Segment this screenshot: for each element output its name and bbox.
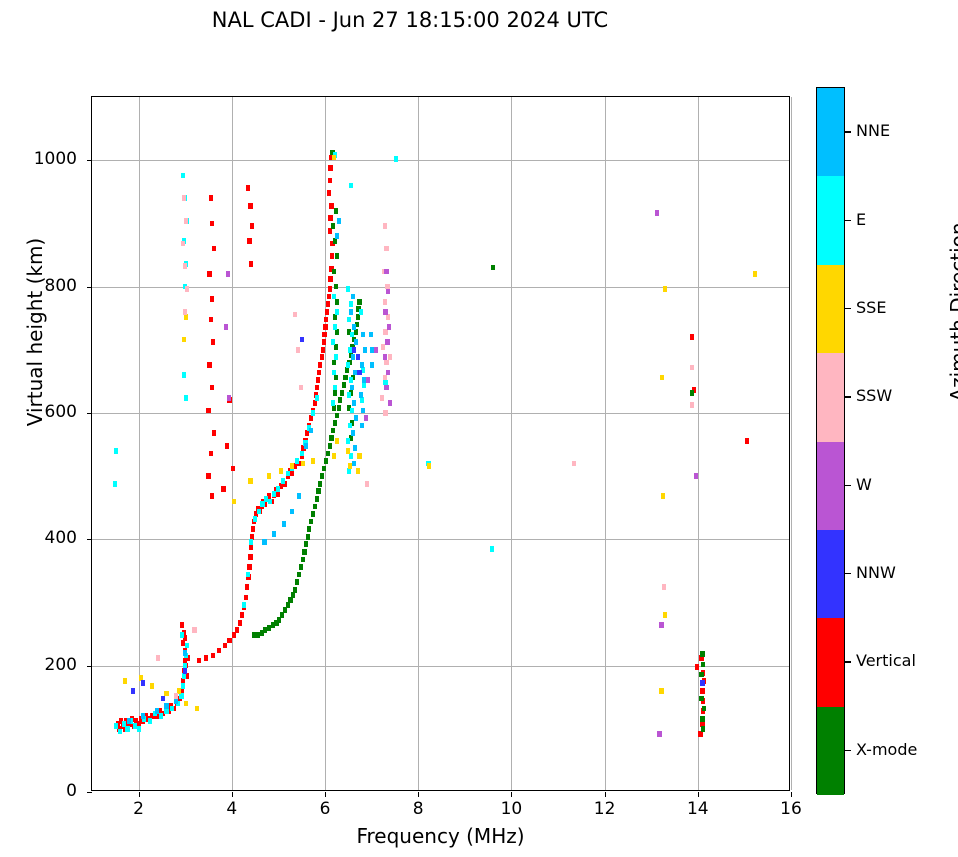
- data-point-e: [347, 468, 351, 474]
- data-point-x-mode: [335, 299, 339, 305]
- data-point-nne: [127, 718, 131, 724]
- colorbar-tick: [845, 396, 851, 397]
- data-point-sse: [663, 286, 667, 292]
- data-point-x-mode: [283, 607, 287, 613]
- y-axis-tick: [87, 792, 92, 793]
- data-point-e: [276, 486, 280, 492]
- data-point-x-mode: [333, 238, 337, 244]
- data-point-e: [331, 339, 335, 345]
- data-point-e: [242, 602, 246, 608]
- gridline-vertical: [698, 97, 699, 790]
- x-axis-tick: [139, 792, 140, 797]
- gridline-vertical: [511, 97, 512, 790]
- data-point-e: [182, 673, 186, 679]
- x-axis-tick-label: 16: [761, 799, 821, 819]
- data-point-w: [384, 269, 388, 275]
- data-point-e: [349, 183, 353, 189]
- data-point-vertical: [320, 354, 324, 360]
- data-point-x-mode: [334, 375, 338, 381]
- colorbar-label-nne: NNE: [856, 121, 890, 140]
- data-point-x-mode: [316, 488, 320, 494]
- data-point-e: [346, 286, 350, 292]
- data-point-nne: [361, 408, 365, 414]
- colorbar-tick: [845, 573, 851, 574]
- data-point-ssw: [383, 410, 387, 416]
- gridline-vertical: [791, 97, 792, 790]
- data-point-e: [331, 400, 335, 406]
- data-point-vertical: [207, 362, 211, 368]
- data-point-nnw: [700, 680, 704, 686]
- data-point-sse: [335, 438, 339, 444]
- gridline-horizontal: [92, 287, 789, 288]
- scatter-canvas: [92, 97, 789, 790]
- data-point-x-mode: [701, 726, 705, 732]
- data-point-vertical: [180, 622, 184, 628]
- colorbar-segment-nnw: [817, 530, 844, 618]
- data-point-sse: [150, 683, 154, 689]
- data-point-w: [226, 271, 230, 277]
- data-point-ssw: [293, 312, 297, 318]
- data-point-x-mode: [699, 696, 703, 702]
- data-point-w: [657, 731, 661, 737]
- data-point-vertical: [225, 443, 229, 449]
- data-point-sse: [356, 468, 360, 474]
- colorbar-title: Azimuth Direction: [946, 172, 958, 452]
- data-point-e: [394, 156, 398, 162]
- data-point-e: [181, 173, 185, 179]
- colorbar-label-ssw: SSW: [856, 386, 892, 405]
- data-point-e: [118, 729, 122, 735]
- data-point-sse: [182, 337, 186, 343]
- gridline-vertical: [418, 97, 419, 790]
- azimuth-colorbar: [816, 87, 845, 794]
- data-point-e: [113, 481, 117, 487]
- data-point-vertical: [217, 648, 221, 654]
- data-point-vertical: [276, 491, 280, 497]
- data-point-w: [385, 339, 389, 345]
- data-point-nne: [290, 509, 294, 515]
- data-point-vertical: [197, 658, 201, 664]
- data-point-sse: [195, 706, 199, 712]
- colorbar-tick: [845, 661, 851, 662]
- data-point-ssw: [174, 693, 178, 699]
- y-axis-tick: [87, 539, 92, 540]
- data-point-vertical: [695, 664, 699, 670]
- data-point-nne: [297, 493, 301, 499]
- y-axis-tick: [87, 287, 92, 288]
- data-point-vertical: [248, 203, 252, 209]
- data-point-sse: [279, 468, 283, 474]
- data-point-vertical: [210, 385, 214, 391]
- data-point-w: [388, 400, 392, 406]
- data-point-nnw: [131, 688, 135, 694]
- data-point-x-mode: [297, 572, 301, 578]
- data-point-nne: [369, 332, 373, 338]
- data-point-nne: [354, 415, 358, 421]
- data-point-e: [148, 718, 152, 724]
- colorbar-tick: [845, 750, 851, 751]
- ionogram-plot-area: 24681012141602004006008001000: [91, 96, 790, 791]
- data-point-x-mode: [690, 390, 694, 396]
- data-point-vertical: [209, 451, 213, 457]
- x-axis-tick: [511, 792, 512, 797]
- data-point-sse: [357, 453, 361, 459]
- colorbar-segment-x-mode: [817, 707, 844, 795]
- data-point-x-mode: [301, 557, 305, 563]
- data-point-vertical: [245, 584, 249, 590]
- data-point-x-mode: [315, 496, 319, 502]
- data-point-w: [383, 309, 387, 315]
- data-point-sse: [348, 463, 352, 469]
- data-point-vertical: [227, 638, 231, 644]
- data-point-nne: [183, 650, 187, 656]
- colorbar-label-sse: SSE: [856, 298, 886, 317]
- data-point-e: [349, 377, 353, 383]
- x-axis-tick-label: 14: [668, 799, 728, 819]
- data-point-vertical: [317, 370, 321, 376]
- data-point-x-mode: [354, 329, 358, 335]
- data-point-sse: [248, 478, 252, 484]
- data-point-x-mode: [335, 253, 339, 259]
- data-point-vertical: [204, 655, 208, 661]
- data-point-e: [334, 354, 338, 360]
- data-point-w: [386, 289, 390, 295]
- data-point-x-mode: [318, 481, 322, 487]
- data-point-vertical: [248, 554, 252, 560]
- y-axis-tick-label: 1000: [0, 149, 77, 169]
- data-point-w: [227, 395, 231, 401]
- data-point-vertical: [223, 643, 227, 649]
- data-point-x-mode: [307, 526, 311, 532]
- data-point-ssw: [384, 246, 388, 252]
- data-point-nne: [351, 430, 355, 436]
- data-point-ssw: [296, 347, 300, 353]
- x-axis-tick: [698, 792, 699, 797]
- data-point-vertical: [247, 564, 251, 570]
- data-point-w: [387, 324, 391, 330]
- data-point-e: [346, 362, 350, 368]
- data-point-e: [281, 478, 285, 484]
- data-point-vertical: [316, 377, 320, 383]
- data-point-x-mode: [291, 592, 295, 598]
- data-point-x-mode: [335, 329, 339, 335]
- gridline-horizontal: [92, 666, 789, 667]
- data-point-nne: [335, 233, 339, 239]
- data-point-vertical: [745, 438, 749, 444]
- data-point-x-mode: [302, 549, 306, 555]
- data-point-x-mode: [313, 504, 317, 510]
- data-point-nnw: [183, 668, 187, 674]
- colorbar-segment-e: [817, 176, 844, 264]
- data-point-nne: [262, 539, 266, 545]
- colorbar-segment-ssw: [817, 353, 844, 441]
- data-point-nne: [352, 324, 356, 330]
- data-point-x-mode: [345, 367, 349, 373]
- data-point-vertical: [240, 612, 244, 618]
- data-point-sse: [184, 701, 188, 707]
- data-point-sse: [301, 461, 305, 467]
- data-point-nne: [350, 385, 354, 391]
- data-point-w: [694, 473, 698, 479]
- data-point-e: [257, 509, 261, 515]
- data-point-vertical: [328, 286, 332, 292]
- data-point-w: [224, 324, 228, 330]
- gridline-vertical: [325, 97, 326, 790]
- data-point-vertical: [209, 317, 213, 323]
- data-point-vertical: [309, 415, 313, 421]
- data-point-vertical: [212, 246, 216, 252]
- data-point-ssw: [183, 263, 187, 269]
- data-point-nne: [360, 362, 364, 368]
- data-point-x-mode: [333, 420, 337, 426]
- data-point-nne: [361, 332, 365, 338]
- data-point-e: [348, 423, 352, 429]
- data-point-e: [332, 294, 336, 300]
- data-point-vertical: [210, 493, 214, 499]
- data-point-x-mode: [288, 597, 292, 603]
- data-point-ssw: [572, 461, 576, 467]
- data-point-nne: [352, 461, 356, 467]
- x-axis-tick: [325, 792, 326, 797]
- data-point-w: [655, 210, 659, 216]
- data-point-sse: [164, 691, 168, 697]
- colorbar-segment-vertical: [817, 618, 844, 706]
- data-point-nne: [349, 309, 353, 315]
- data-point-vertical: [323, 324, 327, 330]
- data-point-ssw: [183, 309, 187, 315]
- data-point-e: [170, 706, 174, 712]
- data-point-vertical: [326, 301, 330, 307]
- data-point-nne: [164, 703, 168, 709]
- data-point-ssw: [690, 365, 694, 371]
- data-point-vertical: [231, 466, 235, 472]
- data-point-e: [350, 408, 354, 414]
- data-point-x-mode: [334, 284, 338, 290]
- data-point-vertical: [318, 362, 322, 368]
- data-point-x-mode: [699, 672, 703, 678]
- data-point-sse: [661, 493, 665, 499]
- x-axis-tick: [232, 792, 233, 797]
- data-point-x-mode: [333, 390, 337, 396]
- data-point-e: [246, 572, 250, 578]
- data-point-x-mode: [335, 413, 339, 419]
- colorbar-label-vertical: Vertical: [856, 651, 916, 670]
- data-point-vertical: [244, 595, 248, 601]
- data-point-x-mode: [286, 602, 290, 608]
- data-point-e: [362, 382, 366, 388]
- data-point-vertical: [328, 276, 332, 282]
- colorbar-tick: [845, 220, 851, 221]
- data-point-x-mode: [356, 314, 360, 320]
- data-point-e: [295, 458, 299, 464]
- data-point-vertical: [207, 271, 211, 277]
- data-point-sse: [290, 463, 294, 469]
- data-point-vertical: [235, 627, 239, 633]
- data-point-nne: [351, 294, 355, 300]
- data-point-e: [349, 453, 353, 459]
- data-point-sse: [427, 463, 431, 469]
- data-point-vertical: [290, 471, 294, 477]
- data-point-e: [333, 324, 337, 330]
- colorbar-segment-nne: [817, 88, 844, 176]
- y-axis-tick-label: 200: [0, 655, 77, 675]
- data-point-e: [490, 546, 494, 552]
- data-point-x-mode: [491, 265, 495, 271]
- data-point-vertical: [211, 653, 215, 659]
- data-point-x-mode: [702, 706, 706, 712]
- data-point-ssw: [181, 241, 185, 247]
- data-point-vertical: [315, 385, 319, 391]
- x-axis-tick: [605, 792, 606, 797]
- gridline-vertical: [605, 97, 606, 790]
- y-axis-tick: [87, 160, 92, 161]
- colorbar-tick: [845, 308, 851, 309]
- data-point-x-mode: [280, 612, 284, 618]
- data-point-x-mode: [342, 382, 346, 388]
- data-point-e: [184, 395, 188, 401]
- data-point-w: [386, 370, 390, 376]
- data-point-vertical: [209, 195, 213, 201]
- data-point-ssw: [380, 395, 384, 401]
- data-point-nne: [359, 392, 363, 398]
- colorbar-label-w: W: [856, 475, 872, 494]
- data-point-w: [374, 347, 378, 353]
- data-point-ssw: [299, 385, 303, 391]
- data-point-x-mode: [338, 397, 342, 403]
- data-point-e: [359, 309, 363, 315]
- data-point-vertical: [700, 688, 704, 694]
- data-point-vertical: [211, 339, 215, 345]
- x-axis-tick-label: 4: [202, 799, 262, 819]
- data-point-w: [364, 415, 368, 421]
- data-point-ssw: [383, 223, 387, 229]
- x-axis-tick: [418, 792, 419, 797]
- data-point-nnw: [357, 370, 361, 376]
- data-point-vertical: [327, 190, 331, 196]
- data-point-e: [185, 643, 189, 649]
- data-point-nne: [370, 362, 374, 368]
- data-point-nne: [309, 428, 313, 434]
- data-point-x-mode: [322, 466, 326, 472]
- data-point-w: [366, 377, 370, 383]
- data-point-x-mode: [332, 360, 336, 366]
- data-point-e: [332, 370, 336, 376]
- data-point-nne: [272, 531, 276, 537]
- data-point-nne: [337, 218, 341, 224]
- data-point-w: [659, 622, 663, 628]
- data-point-sse: [332, 155, 336, 161]
- data-point-nne: [353, 370, 357, 376]
- data-point-x-mode: [328, 443, 332, 449]
- data-point-x-mode: [343, 375, 347, 381]
- data-point-vertical: [322, 332, 326, 338]
- data-point-ssw: [383, 329, 387, 335]
- data-point-vertical: [329, 203, 333, 209]
- data-point-vertical: [330, 253, 334, 259]
- data-point-vertical: [210, 221, 214, 227]
- data-point-vertical: [246, 185, 250, 191]
- data-point-x-mode: [340, 390, 344, 396]
- data-point-sse: [332, 453, 336, 459]
- data-point-vertical: [212, 430, 216, 436]
- x-axis-title: Frequency (MHz): [91, 824, 790, 848]
- data-point-vertical: [324, 317, 328, 323]
- data-point-x-mode: [324, 458, 328, 464]
- data-point-vertical: [250, 223, 254, 229]
- data-point-e: [350, 332, 354, 338]
- data-point-vertical: [690, 334, 694, 340]
- data-point-x-mode: [337, 405, 341, 411]
- data-point-nnw: [352, 347, 356, 353]
- data-point-x-mode: [331, 223, 335, 229]
- data-point-vertical: [238, 620, 242, 626]
- data-point-vertical: [328, 215, 332, 221]
- data-point-x-mode: [357, 299, 361, 305]
- data-point-x-mode: [333, 314, 337, 320]
- data-point-nne: [141, 713, 145, 719]
- data-point-x-mode: [293, 587, 297, 593]
- data-point-ssw: [182, 195, 186, 201]
- data-point-nne: [353, 445, 357, 451]
- data-point-e: [347, 392, 351, 398]
- gridline-horizontal: [92, 413, 789, 414]
- data-point-e: [347, 317, 351, 323]
- y-axis-title: Virtual height (km): [23, 202, 47, 462]
- colorbar-tick: [845, 131, 851, 132]
- data-point-nne: [304, 443, 308, 449]
- data-point-x-mode: [332, 269, 336, 275]
- data-point-x-mode: [306, 534, 310, 540]
- data-point-e: [346, 438, 350, 444]
- data-point-e: [272, 491, 276, 497]
- data-point-sse: [311, 458, 315, 464]
- data-point-e: [180, 632, 184, 638]
- data-point-e: [286, 471, 290, 477]
- data-point-e: [125, 726, 129, 732]
- colorbar-label-nnw: NNW: [856, 563, 896, 582]
- gridline-horizontal: [92, 160, 789, 161]
- data-point-nne: [354, 339, 358, 345]
- data-point-ssw: [383, 299, 387, 305]
- data-point-x-mode: [700, 716, 704, 722]
- data-point-ssw: [365, 481, 369, 487]
- x-axis-tick-label: 12: [575, 799, 635, 819]
- data-point-e: [315, 395, 319, 401]
- data-point-sse: [346, 448, 350, 454]
- data-point-vertical: [321, 347, 325, 353]
- data-point-vertical: [322, 339, 326, 345]
- data-point-e: [253, 516, 257, 522]
- data-point-sse: [660, 375, 664, 381]
- x-axis-tick: [791, 792, 792, 797]
- data-point-vertical: [247, 238, 251, 244]
- data-point-sse: [184, 314, 188, 320]
- data-point-e: [260, 501, 264, 507]
- data-point-sse: [123, 678, 127, 684]
- data-point-vertical: [328, 165, 332, 171]
- x-axis-tick-label: 2: [109, 799, 169, 819]
- data-point-e: [360, 397, 364, 403]
- data-point-nne: [282, 521, 286, 527]
- data-point-sse: [267, 473, 271, 479]
- data-point-e: [268, 499, 272, 505]
- data-point-nnw: [356, 354, 360, 360]
- data-point-x-mode: [309, 519, 313, 525]
- page-title: NAL CADI - Jun 27 18:15:00 2024 UTC: [0, 8, 820, 32]
- colorbar-segment-sse: [817, 265, 844, 353]
- x-axis-tick-label: 10: [481, 799, 541, 819]
- data-point-ssw: [381, 344, 385, 350]
